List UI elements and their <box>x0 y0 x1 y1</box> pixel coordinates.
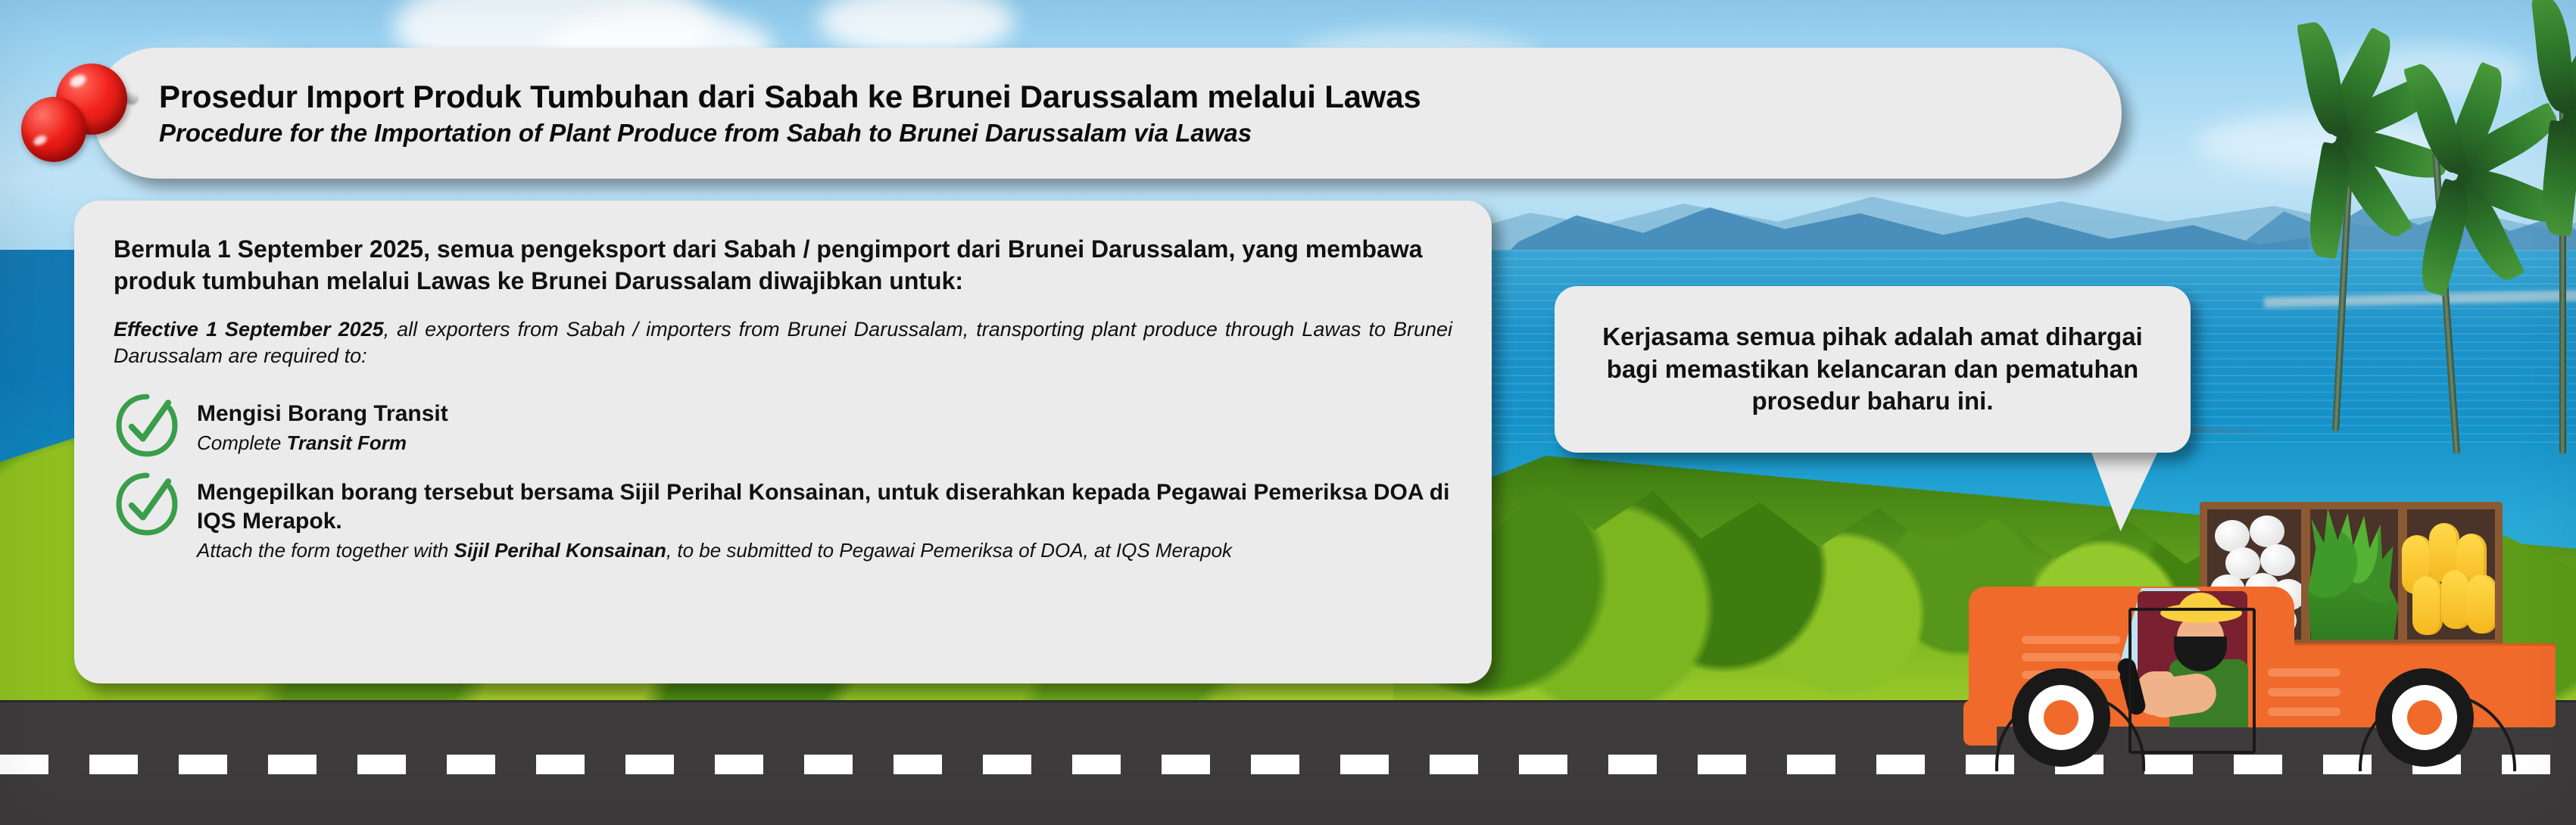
palm-tree <box>2468 91 2576 454</box>
intro-en-lead: Effective 1 September 2025 <box>114 318 384 341</box>
page-title: Prosedur Import Produk Tumbuhan dari Sab… <box>159 79 2122 114</box>
truck-front-wheel <box>2012 668 2110 767</box>
speech-bubble-text: Kerjasama semua pihak adalah amat diharg… <box>1580 321 2165 419</box>
push-pin-group <box>21 59 150 173</box>
check-circle-icon <box>114 471 180 537</box>
check-circle-icon <box>114 392 180 459</box>
checklist-2-ms: Mengepilkan borang tersebut bersama Siji… <box>197 478 1452 536</box>
poster-canvas: Prosedur Import Produk Tumbuhan dari Sab… <box>0 0 2576 825</box>
checklist-2-en-tail: , to be submitted to Pegawai Pemeriksa o… <box>666 539 1232 562</box>
checklist-1-en-plain: Complete <box>197 431 287 454</box>
checklist-1-en: Complete Transit Form <box>197 431 448 456</box>
procedure-panel: Bermula 1 September 2025, semua pengeksp… <box>74 201 1492 683</box>
truck-bumper <box>1963 700 1997 746</box>
speech-bubble: Kerjasama semua pihak adalah amat diharg… <box>1555 286 2191 453</box>
truck-door-outline <box>2128 608 2256 754</box>
crate-cell-corn <box>2399 509 2495 640</box>
crate-cell-leafy-greens <box>2303 509 2400 640</box>
intro-paragraph-ms: Bermula 1 September 2025, semua pengeksp… <box>114 234 1452 297</box>
checklist-2-en: Attach the form together with Sijil Peri… <box>197 538 1452 563</box>
checklist-2-en-bold: Sijil Perihal Konsainan <box>454 539 666 562</box>
intro-paragraph-en: Effective 1 September 2025, all exporter… <box>114 316 1452 369</box>
intro-ms-lead: Bermula 1 September 2025, <box>114 235 430 263</box>
checklist-2-en-plain: Attach the form together with <box>197 539 454 562</box>
push-pin-icon <box>21 97 86 162</box>
page-subtitle: Procedure for the Importation of Plant P… <box>159 118 2122 148</box>
delivery-truck-illustration <box>1950 473 2576 776</box>
checklist-1-en-bold: Transit Form <box>287 431 407 454</box>
title-card: Prosedur Import Produk Tumbuhan dari Sab… <box>92 48 2122 179</box>
requirements-checklist: Mengisi Borang Transit Complete Transit … <box>114 395 1452 562</box>
truck-rear-wheel <box>2375 668 2474 767</box>
list-item: Mengisi Borang Transit Complete Transit … <box>114 395 1452 459</box>
list-item: Mengepilkan borang tersebut bersama Siji… <box>114 474 1452 562</box>
checklist-1-ms: Mengisi Borang Transit <box>197 400 448 428</box>
